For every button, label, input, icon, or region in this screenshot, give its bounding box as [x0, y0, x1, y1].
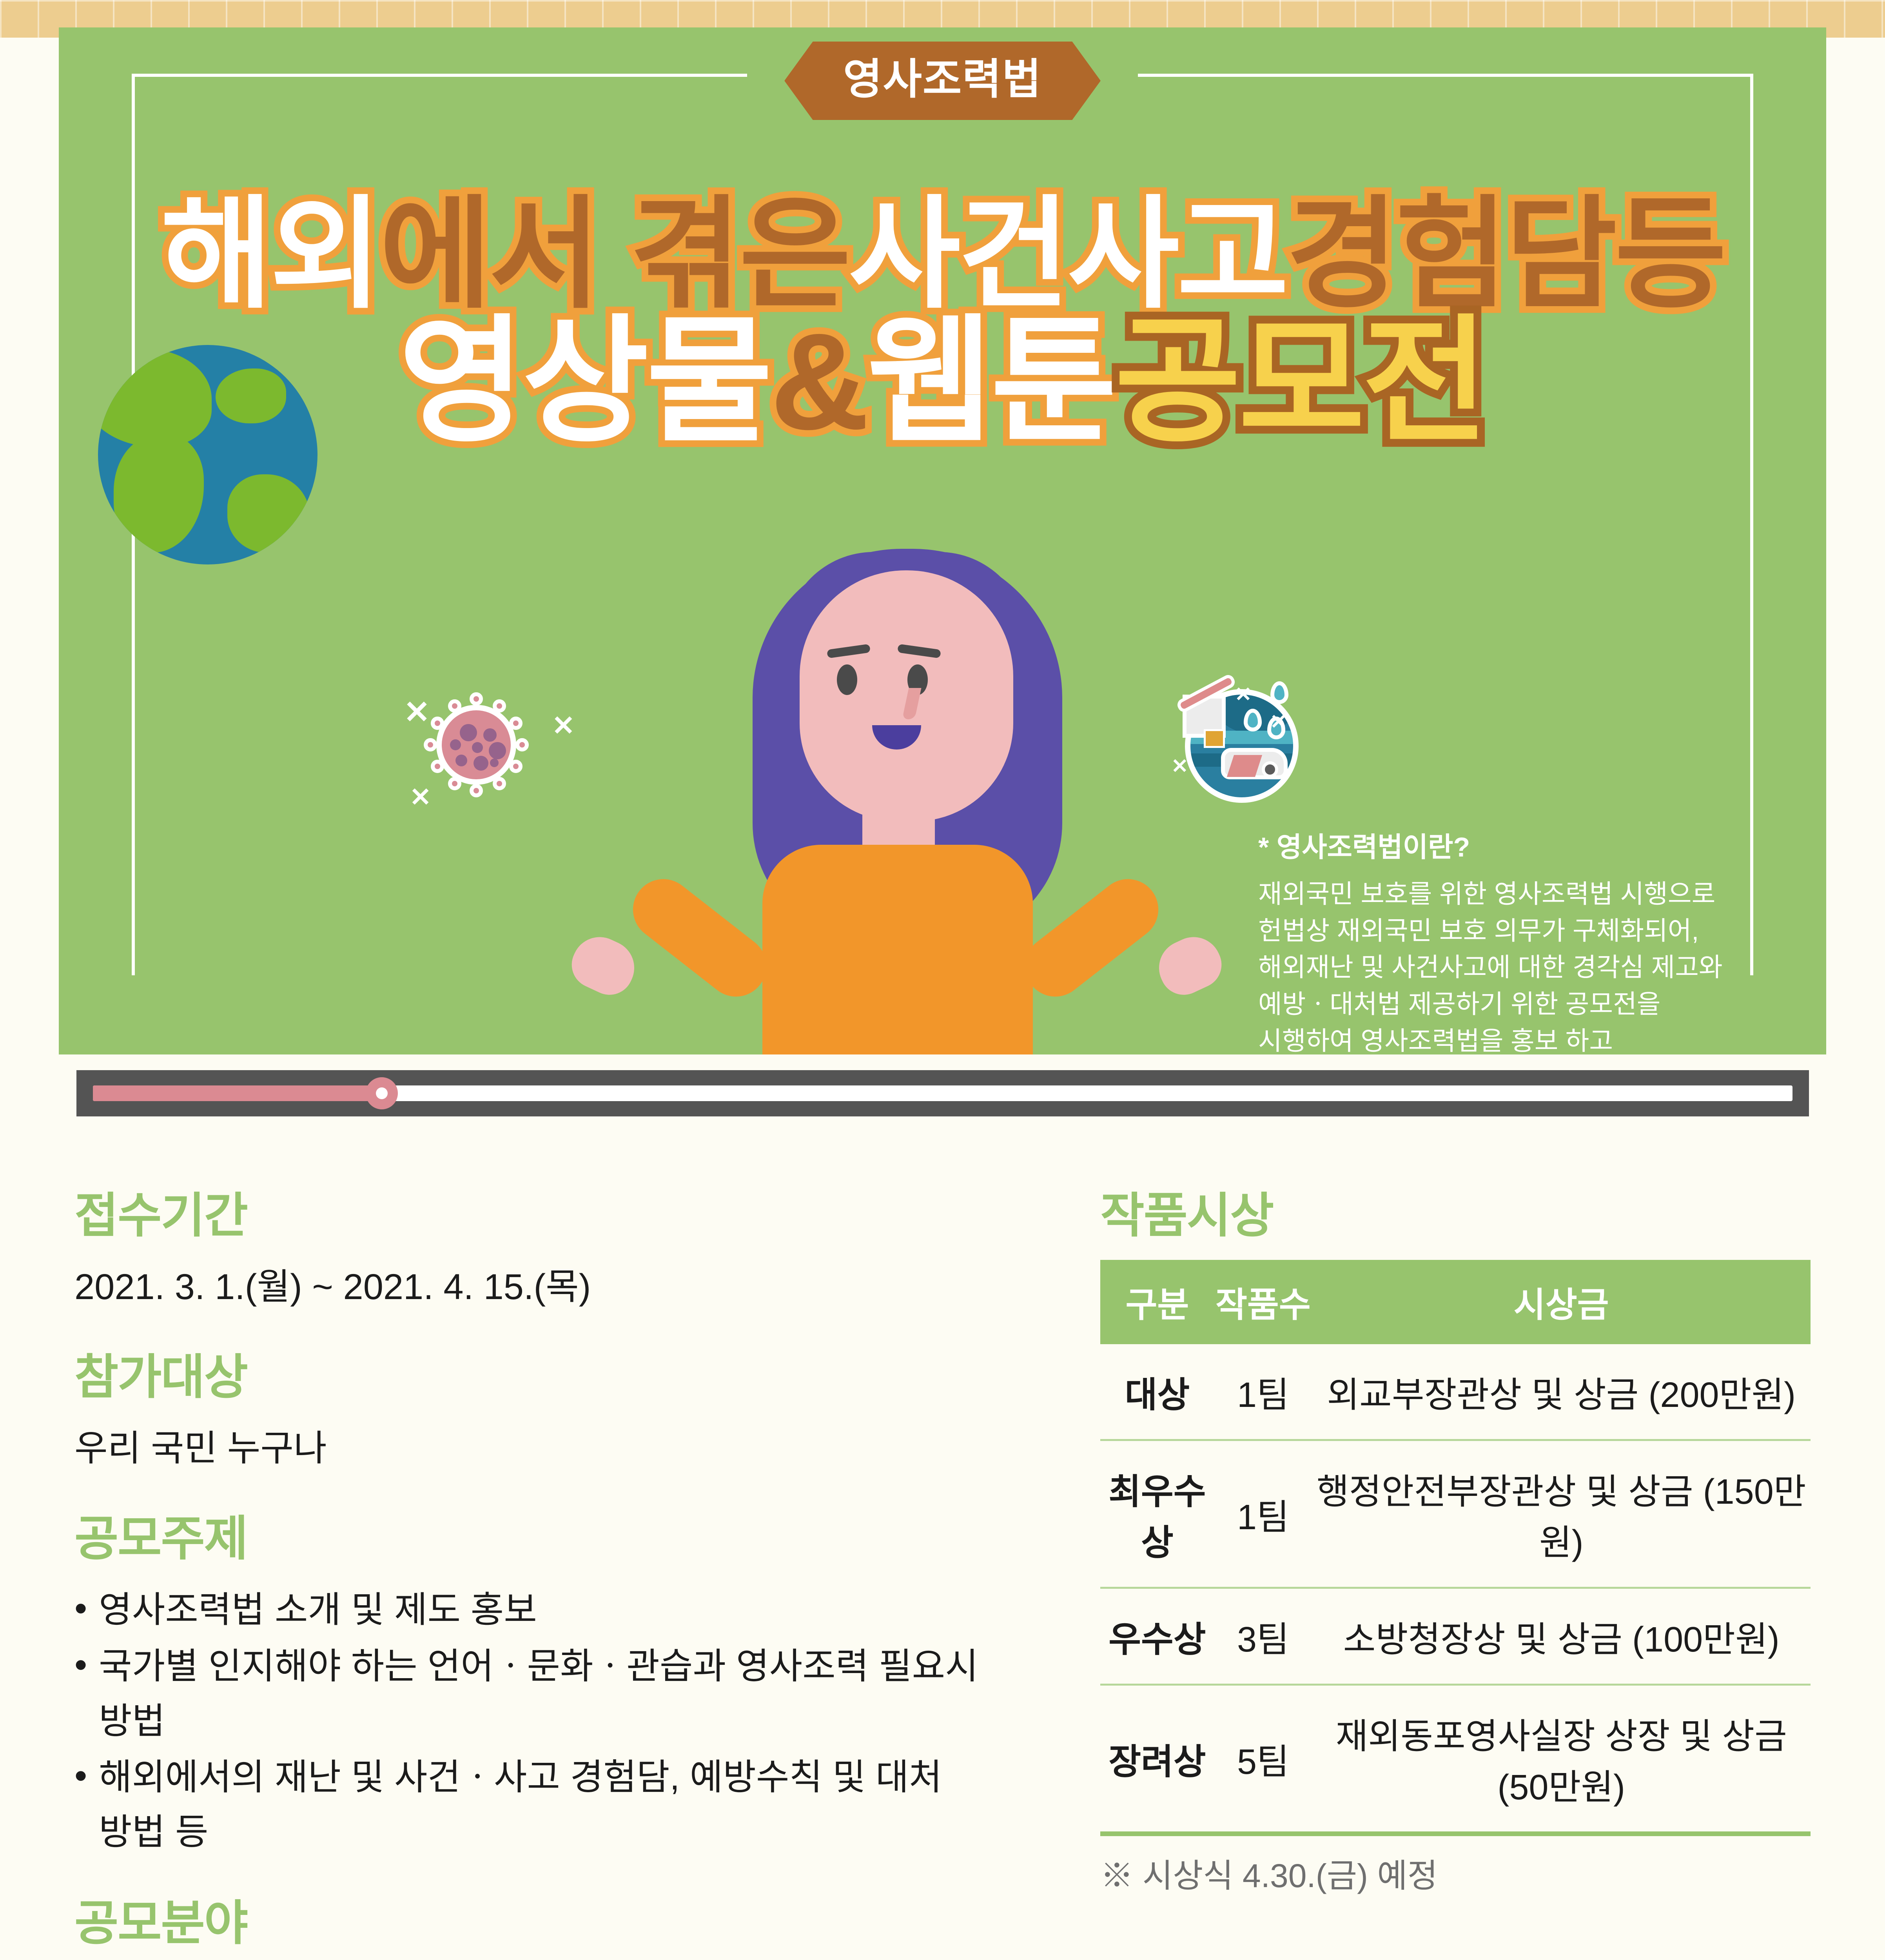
sparkle-icon: ✕ [404, 694, 430, 730]
title-line-1: 해외에서 겪은사건사고경험담등 [59, 196, 1826, 313]
title-chunk-haeoe: 해외 [161, 196, 379, 313]
list-item: 국가별 인지해야 하는 언어ㆍ문화ㆍ관습과 영사조력 필요시 방법 [74, 1639, 979, 1749]
hero-frame-line-top-right [1138, 74, 1753, 77]
table-row: 최우수상 1팀 행정안전부장관상 및 상금 (150만원) [1100, 1440, 1811, 1588]
content-column-left: 접수기간 2021. 3. 1.(월) ~ 2021. 4. 15.(목) 참가… [74, 1192, 979, 1960]
section-topic: 공모주제 영사조력법 소개 및 제도 홍보 국가별 인지해야 하는 언어ㆍ문화ㆍ… [74, 1515, 979, 1860]
column-header-prize: 시상금 [1312, 1260, 1811, 1344]
sparkle-icon: ✕ [552, 710, 575, 742]
cell-category: 장려상 [1100, 1685, 1214, 1834]
section-application-period: 접수기간 2021. 3. 1.(월) ~ 2021. 4. 15.(목) [74, 1192, 979, 1314]
video-progress-bar[interactable] [76, 1070, 1809, 1116]
column-header-category: 구분 [1100, 1260, 1214, 1344]
virus-icon [425, 694, 527, 796]
title-line-2: 영상물&웹툰공모전 [59, 316, 1826, 448]
cell-category: 최우수상 [1100, 1440, 1214, 1588]
section-awards: 작품시상 구분 작품수 시상금 대상 1팀 외교부장관상 및 상금 ( [1100, 1192, 1811, 1897]
cell-prize: 행정안전부장관상 및 상금 (150만원) [1312, 1440, 1811, 1588]
title-chunk-yeongsangmul: 영상물 [399, 316, 770, 448]
section-heading-topic: 공모주제 [74, 1515, 979, 1563]
content-column-right: 작품시상 구분 작품수 시상금 대상 1팀 외교부장관상 및 상금 ( [1100, 1192, 1811, 1960]
section-participants: 참가대상 우리 국민 누구나 [74, 1353, 979, 1475]
video-progress-track[interactable] [93, 1085, 1792, 1101]
sparkle-icon: ✕ [410, 782, 431, 812]
cell-prize: 소방청장상 및 상금 (100만원) [1312, 1588, 1811, 1685]
cell-prize: 외교부장관상 및 상금 (200만원) [1312, 1344, 1811, 1440]
participants-value: 우리 국민 누구나 [74, 1421, 979, 1475]
law-name-badge: 영사조력법 [784, 42, 1101, 120]
poster-content: 접수기간 2021. 3. 1.(월) ~ 2021. 4. 15.(목) 참가… [0, 1192, 1885, 1960]
section-heading-application-period: 접수기간 [74, 1192, 979, 1240]
hero-frame-line-top-left [132, 74, 747, 77]
section-heading-participants: 참가대상 [74, 1353, 979, 1401]
awards-ceremony-note: ※ 시상식 4.30.(금) 예정 [1100, 1849, 1811, 1897]
cell-count: 5팀 [1214, 1685, 1312, 1834]
cell-prize: 재외동포영사실장 상장 및 상금 (50만원) [1312, 1685, 1811, 1834]
sparkle-icon: ✕ [1270, 710, 1287, 734]
hero-frame-line-right [1750, 74, 1753, 975]
list-item: 해외에서의 재난 및 사건ㆍ사고 경험담, 예방수칙 및 대처 방법 등 [74, 1750, 979, 1860]
title-chunk-webtoon: 웹툰 [867, 316, 1115, 448]
poster-root: 영사조력법 [0, 0, 1885, 1960]
list-item: 영사조력법 소개 및 제도 홍보 [74, 1583, 979, 1638]
law-explanation-line: 헌법상 재외국민 보호 의무가 구체화되어, [1258, 913, 1744, 949]
law-explanation-body: 재외국민 보호를 위한 영사조력법 시행으로 헌법상 재외국민 보호 의무가 구… [1258, 876, 1744, 1054]
sparkle-icon: ✕ [1235, 683, 1252, 706]
title-chunk-gyeongheomdam: 경험담등 [1286, 196, 1724, 313]
cell-count: 1팀 [1214, 1440, 1312, 1588]
section-heading-field: 공모분야 [74, 1899, 979, 1947]
hero-banner: 영사조력법 [59, 27, 1826, 1054]
awards-table: 구분 작품수 시상금 대상 1팀 외교부장관상 및 상금 (200만원) 최우수… [1100, 1260, 1811, 1836]
table-row: 우수상 3팀 소방청장상 및 상금 (100만원) [1100, 1588, 1811, 1685]
earth-globe-icon [98, 345, 317, 564]
sparkle-icon: ✕ [1171, 755, 1188, 778]
law-name-badge-label: 영사조력법 [843, 58, 1042, 100]
poster-title: 해외에서 겪은사건사고경험담등 영상물&웹툰공모전 [59, 196, 1826, 448]
law-explanation-title: * 영사조력법이란? [1258, 825, 1744, 865]
section-heading-awards: 작품시상 [1100, 1192, 1811, 1240]
cell-category: 대상 [1100, 1344, 1214, 1440]
video-progress-handle[interactable] [366, 1077, 398, 1109]
application-period-value: 2021. 3. 1.(월) ~ 2021. 4. 15.(목) [74, 1260, 979, 1314]
person-illustration [694, 533, 1121, 1054]
cell-count: 3팀 [1214, 1588, 1312, 1685]
title-chunk-gongmojeon: 공모전 [1115, 316, 1486, 448]
law-explanation-line: 해외재난 및 사건사고에 대한 경각심 제고와 [1258, 949, 1744, 986]
title-chunk-sageonsago: 사건사고 [849, 196, 1286, 313]
law-explanation-line: 예방ㆍ대처법 제공하기 위한 공모전을 [1258, 986, 1744, 1023]
law-explanation-block: * 영사조력법이란? 재외국민 보호를 위한 영사조력법 시행으로 헌법상 재외… [1258, 825, 1744, 1054]
table-row: 장려상 5팀 재외동포영사실장 상장 및 상금 (50만원) [1100, 1685, 1811, 1834]
title-chunk-ampersand: & [770, 316, 867, 448]
title-chunk-eseo-gyeokeun: 에서 겪은 [379, 196, 849, 313]
cell-count: 1팀 [1214, 1344, 1312, 1440]
table-header-row: 구분 작품수 시상금 [1100, 1260, 1811, 1344]
column-header-count: 작품수 [1214, 1260, 1312, 1344]
law-explanation-line: 재외국민 보호를 위한 영사조력법 시행으로 [1258, 876, 1744, 913]
cell-category: 우수상 [1100, 1588, 1214, 1685]
table-row: 대상 1팀 외교부장관상 및 상금 (200만원) [1100, 1344, 1811, 1440]
topic-list: 영사조력법 소개 및 제도 홍보 국가별 인지해야 하는 언어ㆍ문화ㆍ관습과 영… [74, 1583, 979, 1860]
section-field: 공모분야 영상물 : 개인 또는 팀 (4인 이하) 웹툰 : 개인 또는 팀 … [74, 1899, 979, 1960]
law-explanation-line: 시행하여 영사조력법을 홍보 하고 [1258, 1023, 1744, 1054]
video-progress-fill [93, 1085, 382, 1101]
